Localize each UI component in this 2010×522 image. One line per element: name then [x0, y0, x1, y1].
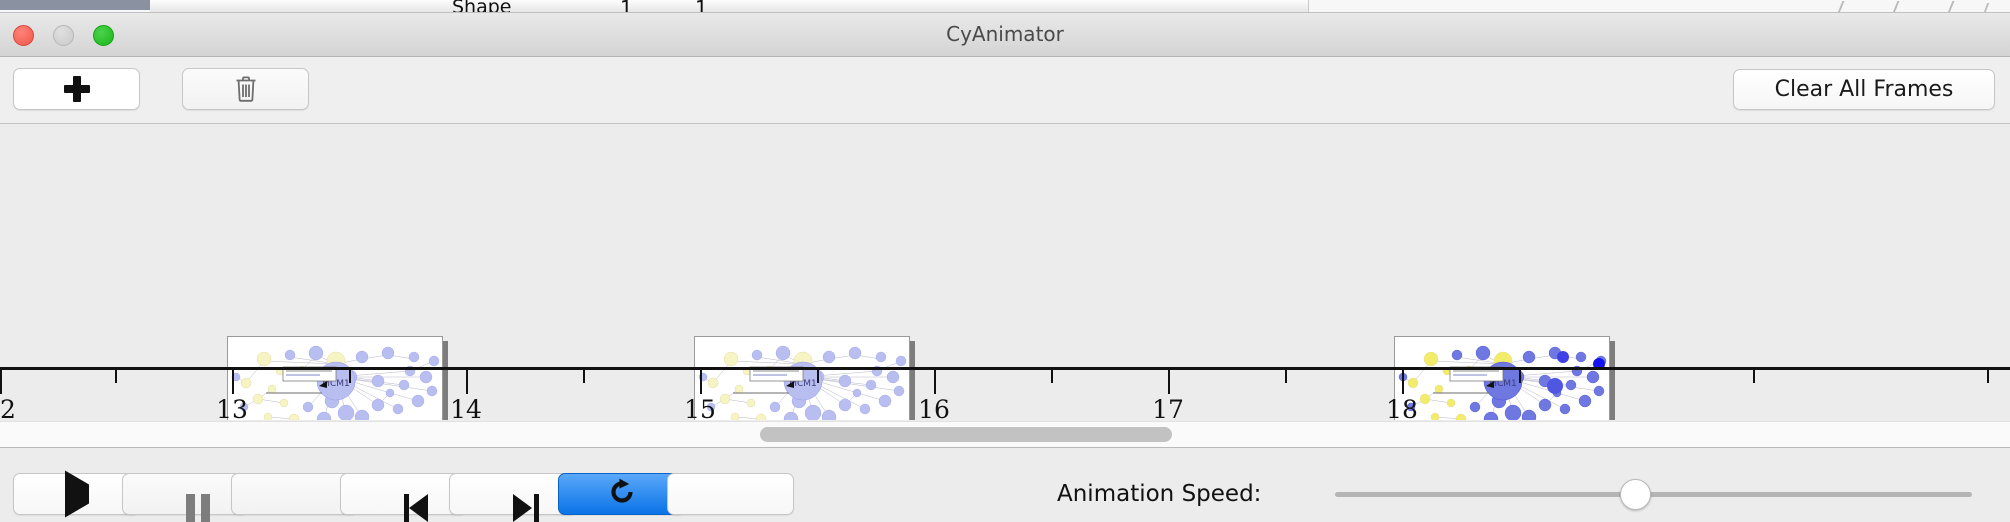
ruler-tick-label: 18: [1386, 395, 1418, 420]
loop-icon: [607, 492, 637, 511]
ruler-minor-tick: [1987, 370, 1989, 383]
timeline-panel[interactable]: MCM1MCM1MCM1 12131415161718 Seconds: [0, 124, 2010, 420]
ruler-major-tick: [0, 370, 2, 394]
ruler-baseline: [0, 367, 2010, 370]
ruler-minor-tick: [1285, 370, 1287, 383]
ruler-tick-label: 14: [450, 395, 482, 420]
timeline-scrollbar[interactable]: [0, 421, 2010, 448]
ruler-major-tick: [1168, 370, 1170, 394]
slider-thumb[interactable]: [1620, 479, 1651, 510]
ruler-tick-label: 13: [216, 395, 248, 420]
ruler-major-tick: [700, 370, 702, 394]
skip-to-start-button[interactable]: [340, 473, 467, 515]
ruler-minor-tick: [817, 370, 819, 383]
clear-all-frames-label: Clear All Frames: [1734, 70, 1994, 109]
title-bar: CyAnimator: [0, 13, 2010, 57]
slider-track[interactable]: [1335, 492, 1972, 497]
ruler-minor-tick: [349, 370, 351, 383]
screen: Shape11 CyAnimator: [0, 0, 2010, 510]
trash-icon: [235, 76, 257, 102]
delete-frame-button[interactable]: [182, 68, 309, 110]
plus-icon: [64, 76, 90, 102]
play-icon: [65, 471, 89, 518]
animation-speed-label: Animation Speed:: [1057, 473, 1261, 515]
ruler-major-tick: [1402, 370, 1404, 394]
ruler-minor-tick: [115, 370, 117, 383]
background-title-block: [0, 0, 150, 10]
ruler-minor-tick: [1051, 370, 1053, 383]
record-button[interactable]: [667, 473, 794, 515]
window-title: CyAnimator: [0, 13, 2010, 56]
button-icon-wrap: [65, 485, 89, 504]
ruler-minor-tick: [1519, 370, 1521, 383]
add-frame-button[interactable]: [13, 68, 140, 110]
button-icon-wrap: [607, 477, 637, 511]
ruler-tick-label: 12: [0, 395, 16, 420]
skip-to-end-button[interactable]: [449, 473, 576, 515]
timeline-scrollbar-thumb[interactable]: [760, 427, 1172, 442]
ruler-major-tick: [466, 370, 468, 394]
time-ruler: 12131415161718: [0, 367, 2010, 420]
ruler-tick-label: 15: [684, 395, 716, 420]
ruler-tick-label: 16: [918, 395, 950, 420]
ruler-minor-tick: [1753, 370, 1755, 383]
stop-button: [231, 473, 358, 515]
ruler-minor-tick: [583, 370, 585, 383]
clear-all-frames-button[interactable]: Clear All Frames: [1733, 69, 1995, 110]
loop-button[interactable]: [558, 473, 685, 515]
ruler-major-tick: [934, 370, 936, 394]
animation-speed-slider[interactable]: [1335, 487, 1972, 501]
ruler-major-tick: [232, 370, 234, 394]
ruler-tick-label: 17: [1152, 395, 1184, 420]
axis-title-label: Seconds: [1119, 419, 1211, 420]
axis-title: Seconds: [0, 419, 2010, 420]
play-button[interactable]: [13, 473, 140, 515]
pause-button: [122, 473, 249, 515]
cyanimator-window: CyAnimator Clear All Frames MCM1MCM1MCM1: [0, 13, 2010, 510]
